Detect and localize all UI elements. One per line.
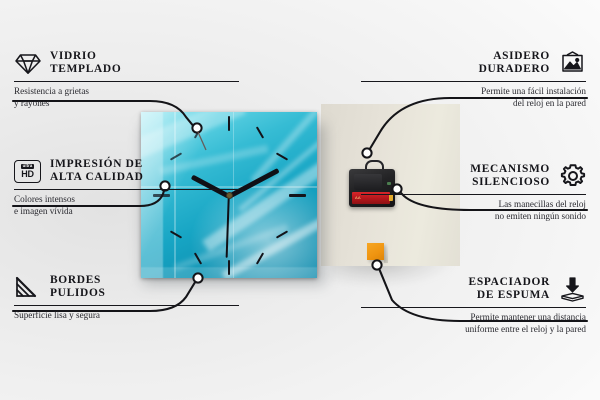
divider — [361, 81, 586, 83]
diamond-icon — [14, 50, 41, 76]
ultra-hd-icon: ultra HD — [14, 158, 41, 184]
divider — [14, 305, 239, 307]
ultra-hd-icon-main-text: HD — [21, 170, 34, 179]
feature-asidero-duradero[interactable]: Asidero duradero Permite una fácil insta… — [361, 50, 586, 109]
feature-title: Espaciador de espuma — [469, 276, 550, 303]
feature-title: Asidero duradero — [479, 50, 550, 77]
feature-title: Bordes pulidos — [50, 274, 106, 301]
feature-vidrio-templado[interactable]: Vidrio templado Resistencia a grietas y … — [14, 50, 239, 109]
feature-subtitle: Permite una fácil instalación del reloj … — [361, 86, 586, 109]
feature-subtitle: Permite mantener una distancia uniforme … — [361, 312, 586, 335]
feature-subtitle: Resistencia a grietas y rayones — [14, 86, 239, 109]
divider — [14, 189, 239, 191]
feature-espaciador-de-espuma[interactable]: Espaciador de espuma Permite mantener un… — [361, 276, 586, 335]
divider — [361, 307, 586, 309]
infographic-canvas: AA — [0, 0, 600, 400]
hour-tick — [228, 260, 230, 275]
foam-spacer-side — [384, 246, 388, 263]
gear-icon — [559, 163, 586, 189]
feature-subtitle: Colores intensos e imagen vívida — [14, 194, 239, 217]
battery-label: AA — [355, 195, 361, 200]
feature-title: Vidrio templado — [50, 50, 121, 77]
hanging-frame-icon — [559, 50, 586, 76]
feature-impresion-alta-calidad[interactable]: ultra HD Impresión de alta calidad Color… — [14, 158, 239, 217]
feature-title: Impresión de alta calidad — [50, 158, 144, 185]
diagonal-lines-icon — [14, 274, 41, 300]
feature-bordes-pulidos[interactable]: Bordes pulidos Superficie lisa y segura — [14, 274, 239, 322]
divider — [14, 81, 239, 83]
feature-subtitle: Las manecillas del reloj no emiten ningú… — [361, 199, 586, 222]
divider — [361, 194, 586, 196]
feature-mecanismo-silencioso[interactable]: Mecanismo silencioso Las manecillas del … — [361, 163, 586, 222]
hour-tick — [289, 194, 306, 197]
hour-tick — [228, 116, 230, 131]
feature-title: Mecanismo silencioso — [470, 163, 550, 190]
feature-subtitle: Superficie lisa y segura — [14, 310, 239, 321]
arrow-onto-pad-icon — [559, 276, 586, 302]
foam-spacer — [367, 243, 384, 260]
